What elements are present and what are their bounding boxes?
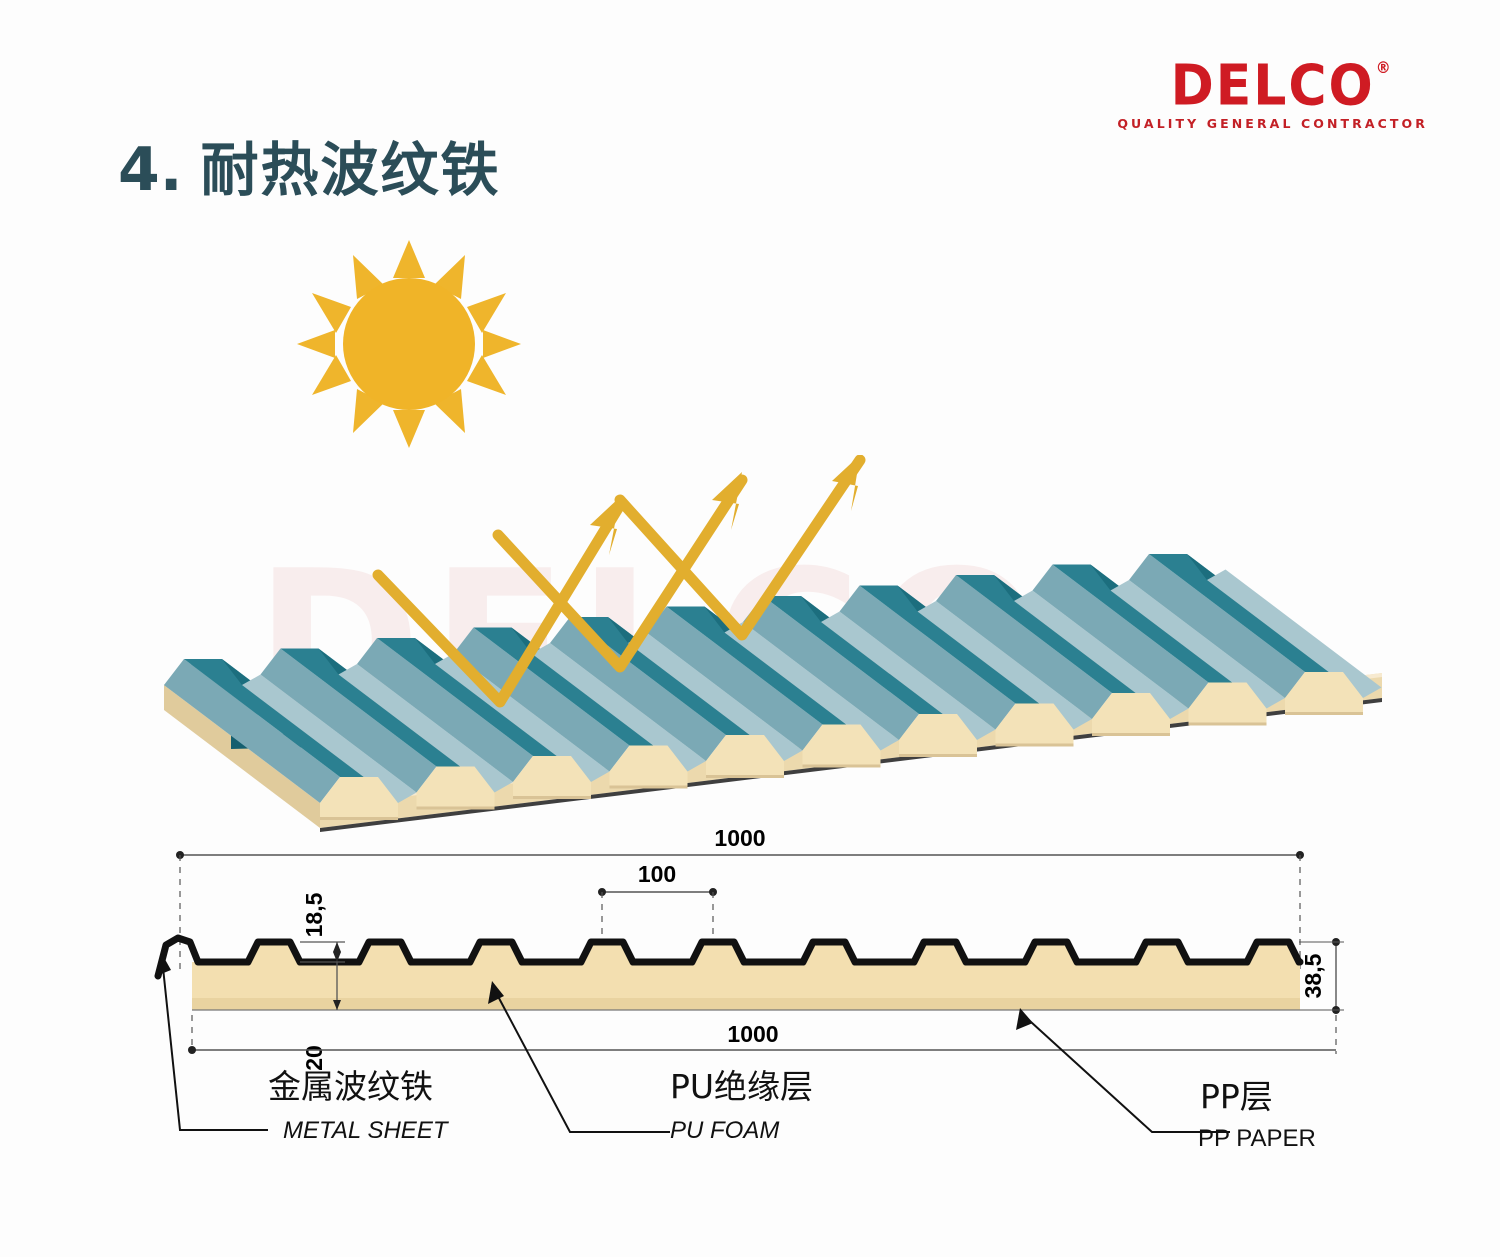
dimension-overall-thickness: 38,5 <box>1299 938 1344 1014</box>
dim-label-38-5: 38,5 <box>1300 953 1326 998</box>
registered-mark-icon: ® <box>1376 60 1393 76</box>
rib-facet <box>706 775 784 778</box>
dim-label-1000-top: 1000 <box>714 830 765 851</box>
rib-facet <box>1189 723 1267 726</box>
slide-canvas: DELCO GENERAL DELCO ® QUALITY GENERAL CO… <box>0 0 1500 1257</box>
callout-pp-paper-en: PP PAPER <box>1198 1125 1316 1152</box>
page-title: 4. 耐热波纹铁 <box>118 140 501 200</box>
callout-metal-sheet-en: METAL SHEET <box>283 1117 450 1144</box>
callout-pu-foam-cn: PU绝缘层 <box>670 1067 813 1106</box>
callout-metal-sheet: 金属波纹铁 METAL SHEET <box>268 1067 450 1144</box>
callout-pu-foam: PU绝缘层 PU FOAM <box>670 1067 813 1144</box>
logo-word-text: DELCO <box>1171 54 1375 119</box>
callout-pp-paper-cn: PP层 <box>1200 1077 1273 1116</box>
sun-core-icon <box>343 278 475 410</box>
rib-facet <box>1285 712 1363 715</box>
dim-label-18-5: 18,5 <box>301 892 327 937</box>
rib-facet <box>513 796 591 799</box>
cross-section-drawing: 1000 100 <box>140 830 1370 1250</box>
delco-logo: DELCO ® QUALITY GENERAL CONTRACTOR <box>1117 60 1428 131</box>
dimension-rib-pitch: 100 <box>598 861 717 948</box>
rib-facet <box>417 807 495 810</box>
pu-foam-core-section <box>192 962 1300 1010</box>
dim-label-100: 100 <box>638 861 676 887</box>
dimension-overall-width-bottom: 1000 <box>188 1015 1336 1054</box>
rib-facet <box>610 786 688 789</box>
rib-facet <box>320 817 398 820</box>
rib-facet <box>899 754 977 757</box>
panel-3d-illustration <box>120 455 1410 855</box>
title-text: 耐热波纹铁 <box>201 141 501 199</box>
callout-pu-foam-en: PU FOAM <box>670 1117 779 1144</box>
rib-facet <box>1092 733 1170 736</box>
dim-label-1000-bottom: 1000 <box>727 1021 778 1047</box>
callout-metal-sheet-cn: 金属波纹铁 <box>268 1067 433 1106</box>
sun-icon <box>293 238 525 450</box>
title-number: 4. <box>118 140 183 200</box>
callout-pp-paper: PP层 PP PAPER <box>1198 1077 1316 1152</box>
dimension-rib-height: 18,5 <box>300 892 345 962</box>
logo-wordmark: DELCO ® <box>1171 58 1375 114</box>
rib-facet <box>996 744 1074 747</box>
rib-facet <box>803 765 881 768</box>
